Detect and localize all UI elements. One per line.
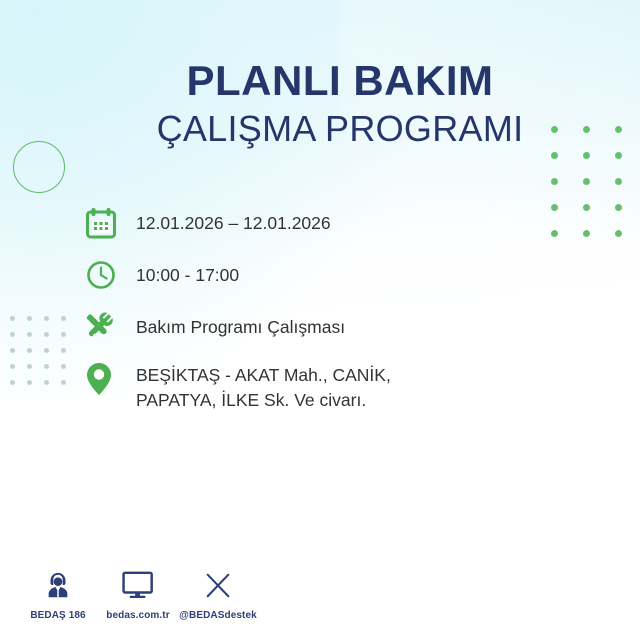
detail-row-work-type: Bakım Programı Çalışması [86,307,546,347]
tools-icon [86,307,124,347]
address-text: BEŞİKTAŞ - AKAT Mah., CANİK, PAPATYA, İL… [124,359,391,414]
planned-maintenance-poster: PLANLI BAKIM ÇALIŞMA PROGRAMI [0,0,640,640]
detail-row-time: 10:00 - 17:00 [86,255,546,295]
calendar-icon [86,203,124,243]
title-line-primary: PLANLI BAKIM [140,60,540,102]
footer-item-social[interactable]: @BEDASdestek [178,564,258,621]
work-type-text: Bakım Programı Çalışması [124,307,345,340]
maintenance-details-list: 12.01.2026 – 12.01.2026 10:00 - 17:00 [86,203,546,426]
footer-contact-items: BEDAŞ 186 bedas.com.tr [18,564,258,621]
footer-label-social: @BEDASdestek [178,610,258,621]
footer-label-call-center: BEDAŞ 186 [18,610,98,621]
address-line-1: BEŞİKTAŞ - AKAT Mah., CANİK, [136,363,391,388]
x-twitter-icon [178,564,258,606]
monitor-icon [98,564,178,606]
title-line-secondary: ÇALIŞMA PROGRAMI [140,106,540,151]
address-line-2: PAPATYA, İLKE Sk. Ve civarı. [136,388,391,413]
location-pin-icon [86,359,124,399]
poster-footer: BEDAŞ 186 bedas.com.tr [0,556,640,640]
detail-row-date: 12.01.2026 – 12.01.2026 [86,203,546,243]
date-range-text: 12.01.2026 – 12.01.2026 [124,203,331,236]
footer-item-website[interactable]: bedas.com.tr [98,564,178,621]
time-range-text: 10:00 - 17:00 [124,255,239,288]
footer-label-website: bedas.com.tr [98,610,178,621]
circle-outline-decoration [13,141,65,193]
dot-grid-left-decoration [10,316,78,396]
diagonal-stripes-decoration [0,0,126,102]
headset-agent-icon [18,564,98,606]
dot-grid-right-decoration [551,126,640,256]
detail-row-address: BEŞİKTAŞ - AKAT Mah., CANİK, PAPATYA, İL… [86,359,546,414]
clock-icon [86,255,124,295]
footer-item-call-center[interactable]: BEDAŞ 186 [18,564,98,621]
poster-title: PLANLI BAKIM ÇALIŞMA PROGRAMI [140,60,540,151]
